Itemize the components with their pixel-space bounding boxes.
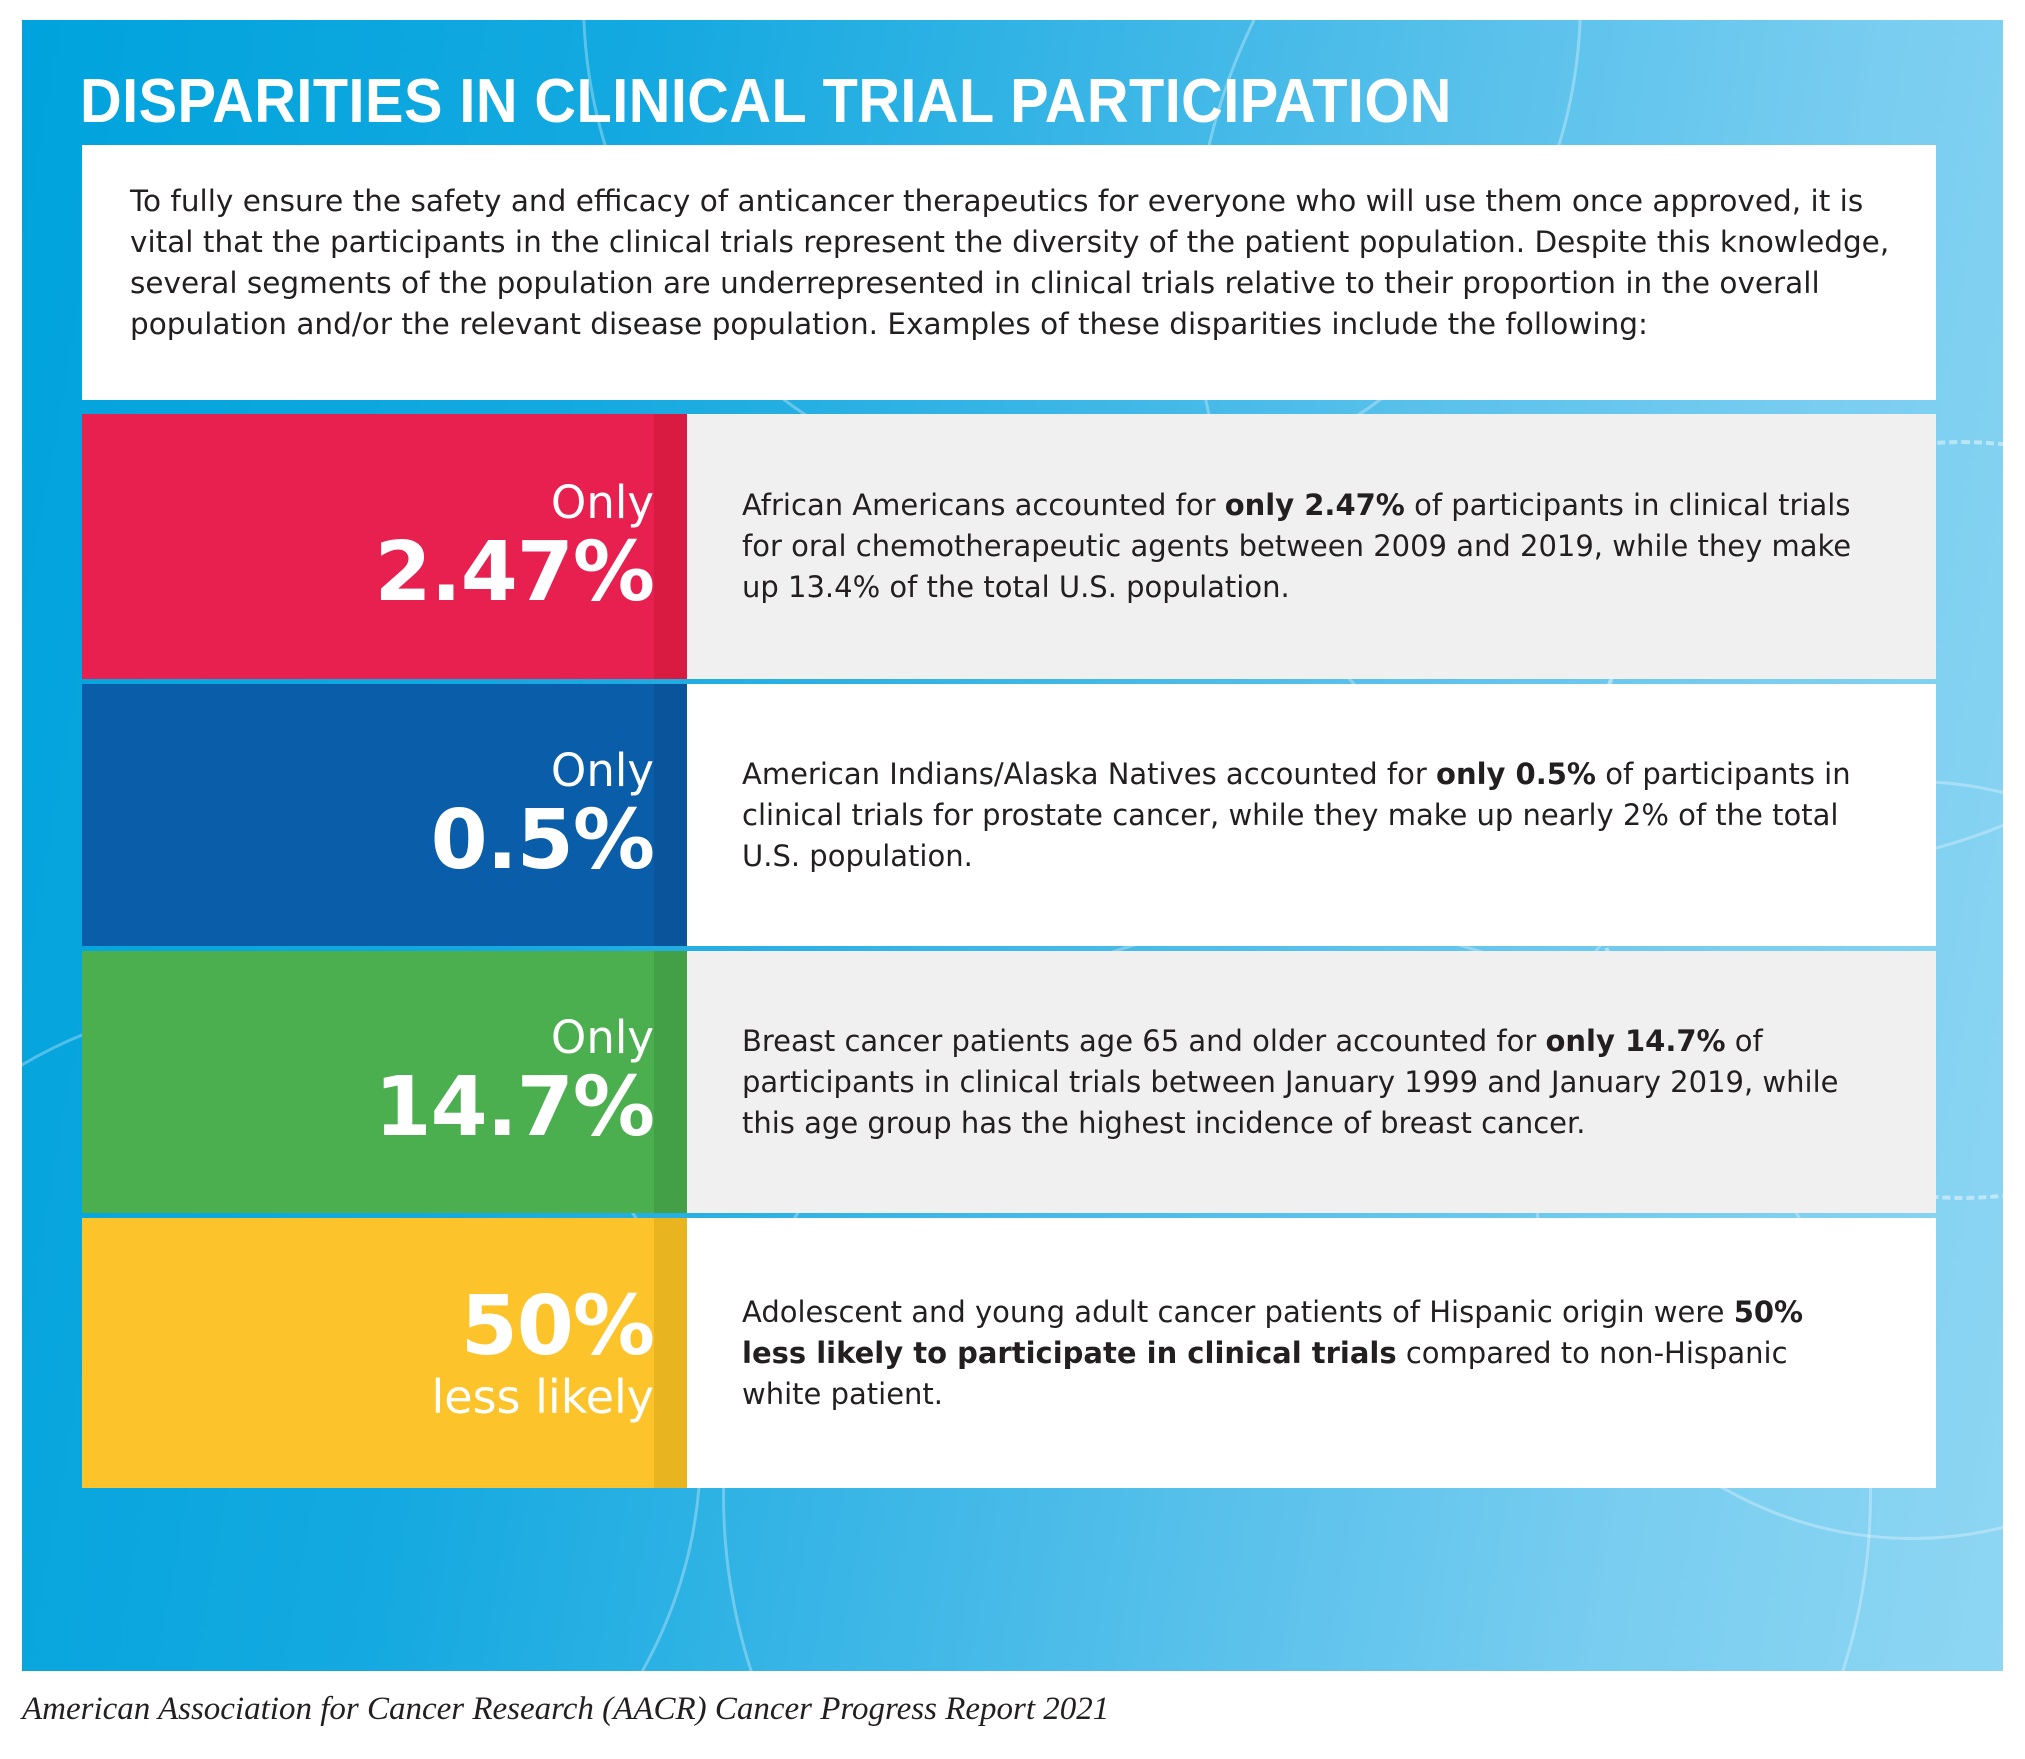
stat-value: 50% (461, 1283, 654, 1371)
attribution-text: American Association for Cancer Research… (22, 1691, 1109, 1728)
description-prefix: Adolescent and young adult cancer patien… (742, 1295, 1734, 1329)
stat-description-panel: African Americans accounted for only 2.4… (687, 414, 1936, 679)
stat-value: 0.5% (431, 797, 654, 885)
description-highlight: only 2.47% (1225, 488, 1405, 522)
stat-only-label: Only (551, 477, 654, 529)
intro-paragraph: To fully ensure the safety and efficacy … (130, 181, 1896, 345)
description-highlight: only 0.5% (1436, 757, 1596, 791)
stat-accent-stripe (654, 1218, 687, 1488)
stat-description-text: Breast cancer patients age 65 and older … (742, 1021, 1874, 1144)
stat-accent-stripe (654, 951, 687, 1213)
stat-description-panel: Breast cancer patients age 65 and older … (687, 951, 1936, 1213)
infographic-root: DISPARITIES IN CLINICAL TRIAL PARTICIPAT… (0, 0, 2025, 1759)
stat-description-panel: American Indians/Alaska Natives accounte… (687, 684, 1936, 946)
stat-row: Only14.7%Breast cancer patients age 65 a… (82, 951, 1936, 1213)
stat-row: 50%less likelyAdolescent and young adult… (82, 1218, 1936, 1488)
description-prefix: American Indians/Alaska Natives accounte… (742, 757, 1436, 791)
stat-row: Only0.5%American Indians/Alaska Natives … (82, 684, 1936, 946)
description-prefix: African Americans accounted for (742, 488, 1225, 522)
stat-rows: Only2.47%African Americans accounted for… (82, 414, 1936, 1488)
stat-description-text: Adolescent and young adult cancer patien… (742, 1292, 1874, 1415)
stat-block-breast-cancer-65-and-older: Only14.7% (82, 951, 687, 1213)
stat-description-text: African Americans accounted for only 2.4… (742, 485, 1874, 608)
intro-panel: To fully ensure the safety and efficacy … (82, 145, 1936, 400)
stat-description-text: American Indians/Alaska Natives accounte… (742, 754, 1874, 877)
description-prefix: Breast cancer patients age 65 and older … (742, 1024, 1545, 1058)
stat-only-label: Only (551, 745, 654, 797)
stat-only-label: Only (551, 1012, 654, 1064)
page-title: DISPARITIES IN CLINICAL TRIAL PARTICIPAT… (80, 66, 1452, 137)
stat-value: 2.47% (375, 529, 654, 617)
stat-accent-stripe (654, 684, 687, 946)
stat-block-african-americans: Only2.47% (82, 414, 687, 679)
blue-canvas: DISPARITIES IN CLINICAL TRIAL PARTICIPAT… (22, 20, 2003, 1671)
stat-block-hispanic-ayа-patients: 50%less likely (82, 1218, 687, 1488)
stat-accent-stripe (654, 414, 687, 679)
stat-block-american-indians-alaska-natives: Only0.5% (82, 684, 687, 946)
stat-value: 14.7% (375, 1064, 654, 1152)
description-highlight: only 14.7% (1545, 1024, 1725, 1058)
stat-row: Only2.47%African Americans accounted for… (82, 414, 1936, 679)
stat-description-panel: Adolescent and young adult cancer patien… (687, 1218, 1936, 1488)
stat-sub-label: less likely (432, 1371, 655, 1423)
